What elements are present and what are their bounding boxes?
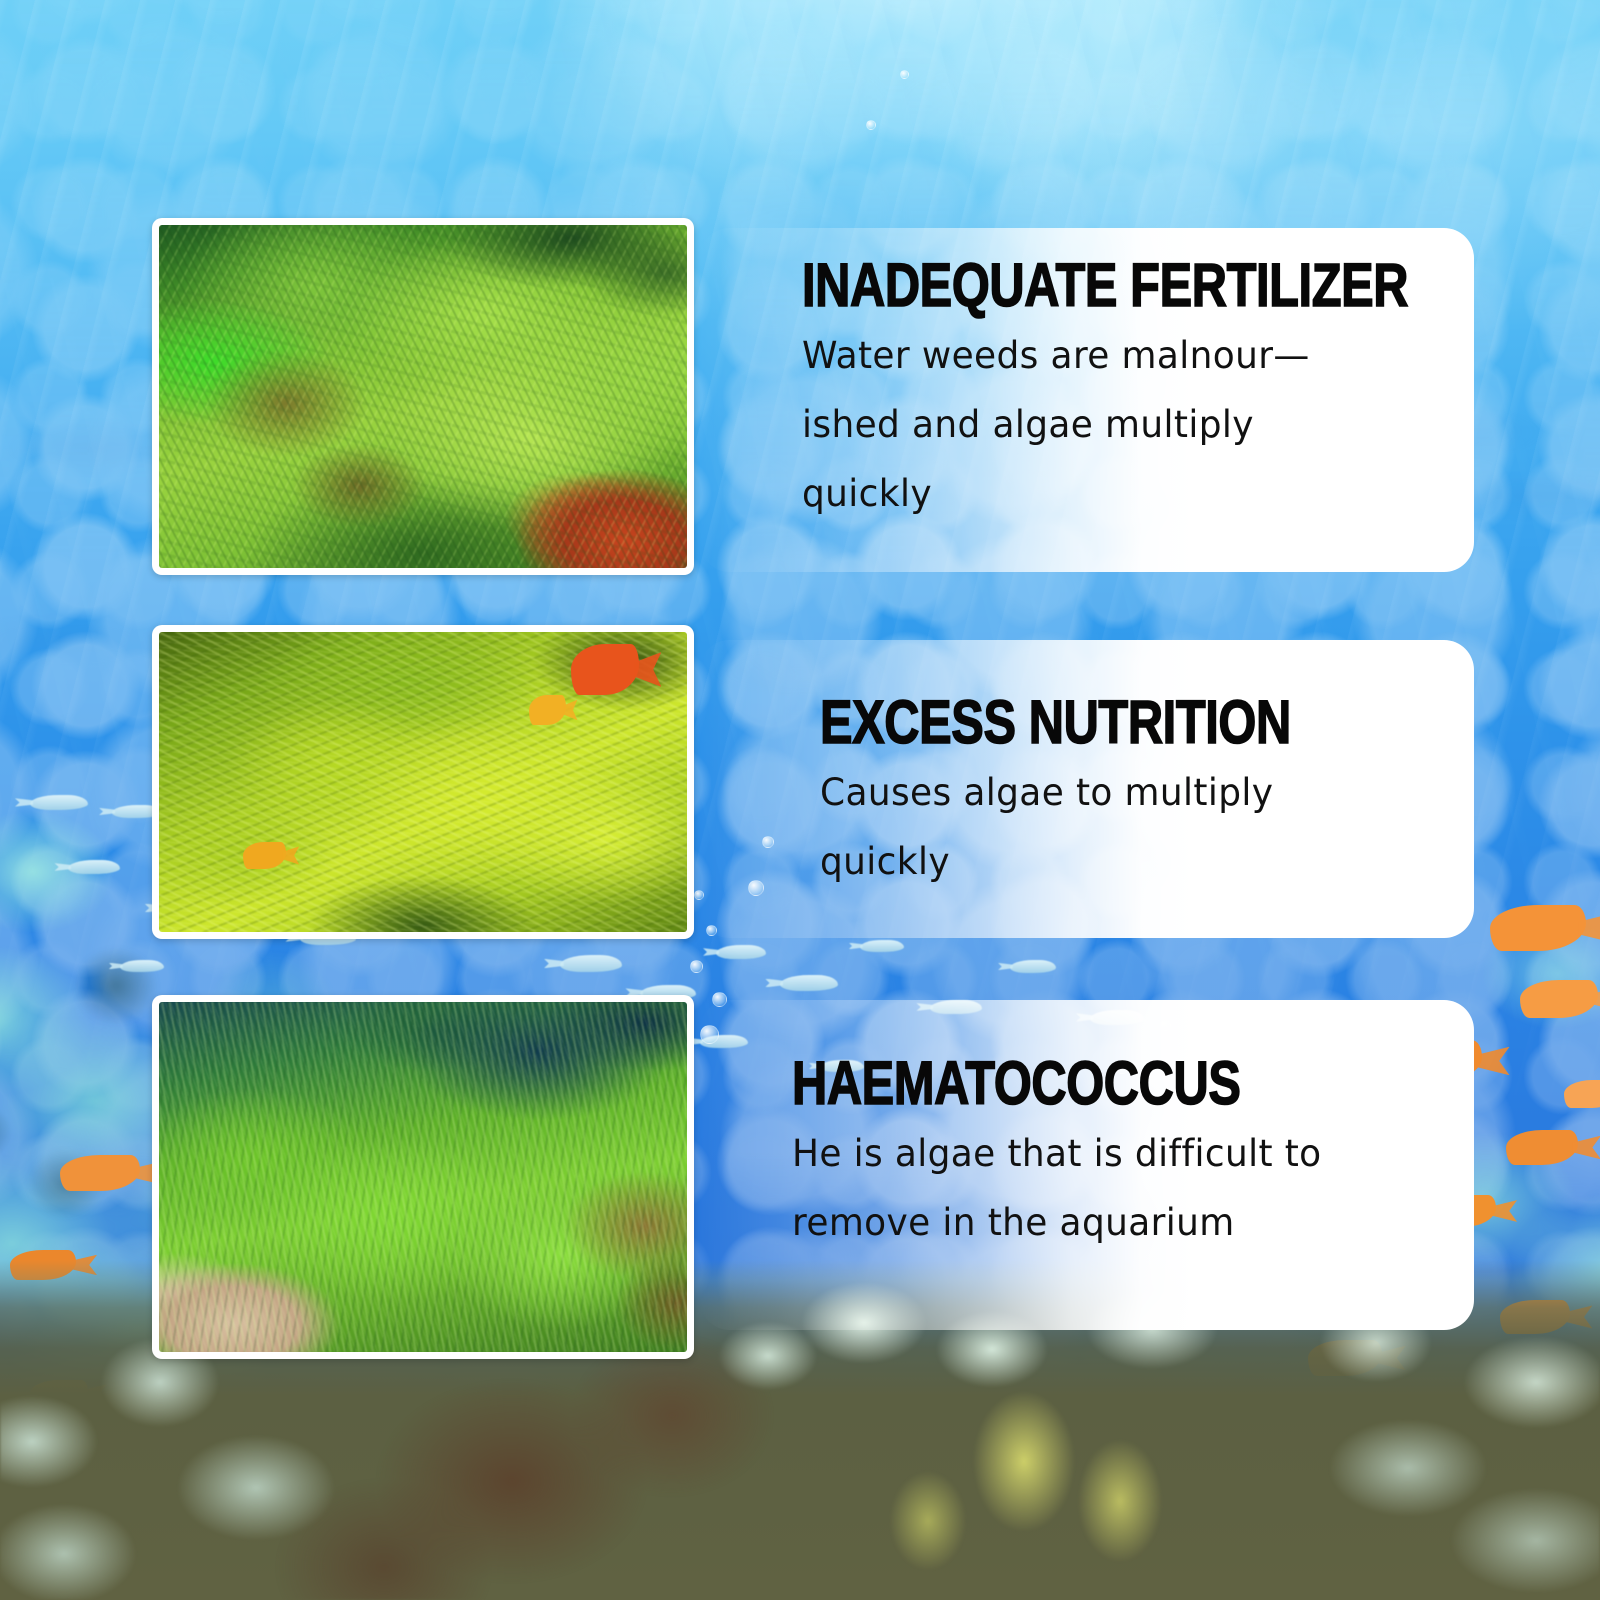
- card-title: HAEMATOCOCCUS: [792, 1053, 1320, 1114]
- photo-inadequate-fertilizer: [159, 225, 687, 568]
- card-title: EXCESS NUTRITION: [820, 692, 1332, 753]
- minnow-fish: [860, 940, 904, 952]
- bubble: [866, 120, 876, 130]
- card-body: Water weeds are malnour— ished and algae…: [802, 322, 1423, 528]
- photo-frame-inadequate-fertilizer: [152, 218, 694, 575]
- minnow-fish: [120, 960, 164, 972]
- card-text-haematococcus: HAEMATOCOCCUS He is algae that is diffic…: [792, 1053, 1452, 1258]
- photo-frame-haematococcus: [152, 995, 694, 1359]
- photo-excess-nutrition: [159, 632, 687, 932]
- card-body: Causes algae to multiply quickly: [820, 759, 1441, 897]
- card-title: INADEQUATE FERTILIZER: [802, 255, 1314, 316]
- card-text-excess-nutrition: EXCESS NUTRITION Causes algae to multipl…: [820, 692, 1460, 897]
- minnow-fish: [30, 795, 88, 810]
- photo-haematococcus: [159, 1002, 687, 1352]
- photo-texture: [159, 225, 687, 568]
- photo-frame-excess-nutrition: [152, 625, 694, 939]
- minnow-fish: [68, 860, 120, 874]
- infographic-canvas: INADEQUATE FERTILIZER Water weeds are ma…: [0, 0, 1600, 1600]
- card-body: He is algae that is difficult to remove …: [792, 1120, 1432, 1258]
- minnow-fish: [1010, 960, 1056, 973]
- bubble: [900, 70, 909, 79]
- bubble: [690, 960, 703, 973]
- card-text-inadequate-fertilizer: INADEQUATE FERTILIZER Water weeds are ma…: [802, 255, 1442, 528]
- minnow-fish: [780, 975, 838, 991]
- minnow-fish: [560, 955, 622, 972]
- orange-fish: [1564, 1080, 1600, 1108]
- minnow-fish: [716, 945, 766, 959]
- photo-texture: [159, 1002, 687, 1352]
